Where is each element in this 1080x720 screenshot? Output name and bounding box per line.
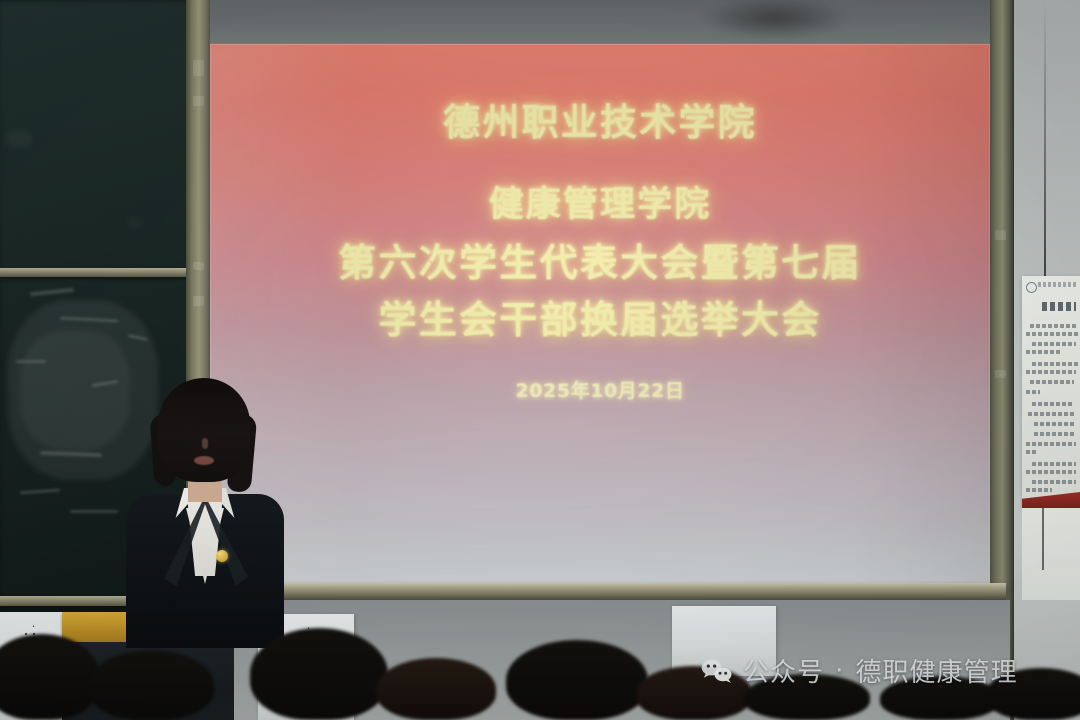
audience-head	[880, 676, 1000, 720]
presenter-hair	[158, 378, 250, 482]
projection-screen: 德州职业技术学院 健康管理学院 第六次学生代表大会暨第七届 学生会干部换届选举大…	[210, 0, 990, 588]
audience-head	[376, 658, 496, 720]
audience-head	[88, 650, 214, 720]
slide-line-college: 健康管理学院	[489, 176, 712, 227]
screen-top-shadow	[210, 0, 990, 44]
audience-head	[250, 628, 388, 720]
hanging-cord	[1044, 0, 1046, 276]
chalk-rail-top	[0, 268, 196, 277]
wall-notice-poster	[1022, 276, 1080, 508]
slide-text-block: 德州职业技术学院 健康管理学院 第六次学生代表大会暨第七届 学生会干部换届选举大…	[210, 44, 990, 588]
audience-head	[986, 668, 1080, 720]
slide-line-event-1: 第六次学生代表大会暨第七届	[338, 232, 862, 287]
audience-head	[506, 640, 648, 720]
audience-head	[744, 674, 870, 720]
slide-line-event-2: 学生会干部换届选举大会	[378, 289, 821, 344]
slide-line-institution: 德州职业技术学院	[443, 92, 757, 146]
poster-red-band	[1022, 492, 1080, 508]
poster-emblem-icon	[1026, 282, 1037, 293]
screen-bottom-trim	[196, 583, 1006, 600]
slide-date: 2025年10月22日	[515, 376, 684, 403]
audience-head	[636, 666, 752, 720]
wall-panel-below-poster	[1022, 508, 1080, 600]
hanging-cord-lower	[1042, 508, 1044, 570]
presenter	[118, 378, 290, 648]
projected-slide: 德州职业技术学院 健康管理学院 第六次学生代表大会暨第七届 学生会干部换届选举大…	[210, 44, 990, 588]
conference-photo: 德州职业技术学院 健康管理学院 第六次学生代表大会暨第七届 学生会干部换届选举大…	[0, 0, 1080, 720]
presenter-badge-pin	[216, 550, 228, 562]
